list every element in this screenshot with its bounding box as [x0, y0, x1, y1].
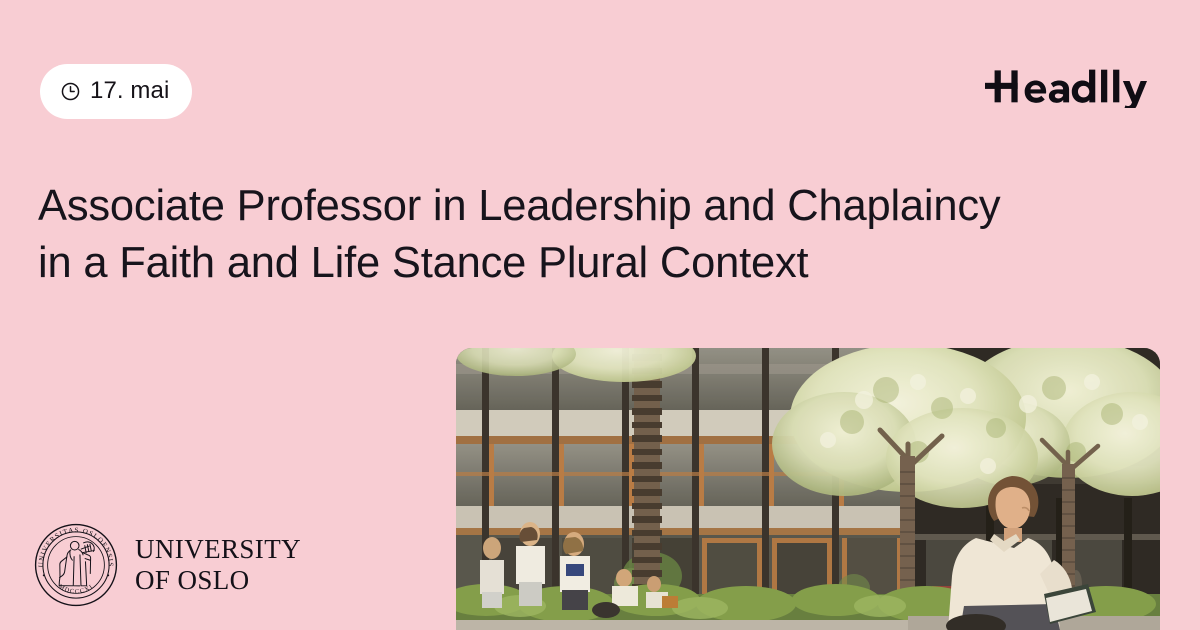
headly-wordmark-icon: [985, 64, 1162, 108]
svg-text:UNIVERSITAS OSLOENSIS: UNIVERSITAS OSLOENSIS: [37, 526, 114, 567]
brand-logo[interactable]: [985, 60, 1162, 112]
campus-photo-illustration: [456, 348, 1160, 630]
university-of-oslo-logo: UNIVERSITAS OSLOENSIS MDCCCXI: [33, 522, 301, 608]
page-title: Associate Professor in Leadership and Ch…: [38, 178, 1128, 292]
article-photo: [456, 348, 1160, 630]
social-share-card: 17. mai Assoc: [0, 0, 1200, 630]
svg-text:MDCCCXI: MDCCCXI: [57, 583, 95, 595]
university-of-oslo-seal-icon: UNIVERSITAS OSLOENSIS MDCCCXI: [33, 522, 119, 608]
date-badge-label: 17. mai: [90, 79, 169, 105]
date-badge: 17. mai: [40, 64, 192, 119]
clock-icon: [60, 81, 81, 102]
university-of-oslo-wordmark: UNIVERSITY OF OSLO: [135, 534, 301, 596]
